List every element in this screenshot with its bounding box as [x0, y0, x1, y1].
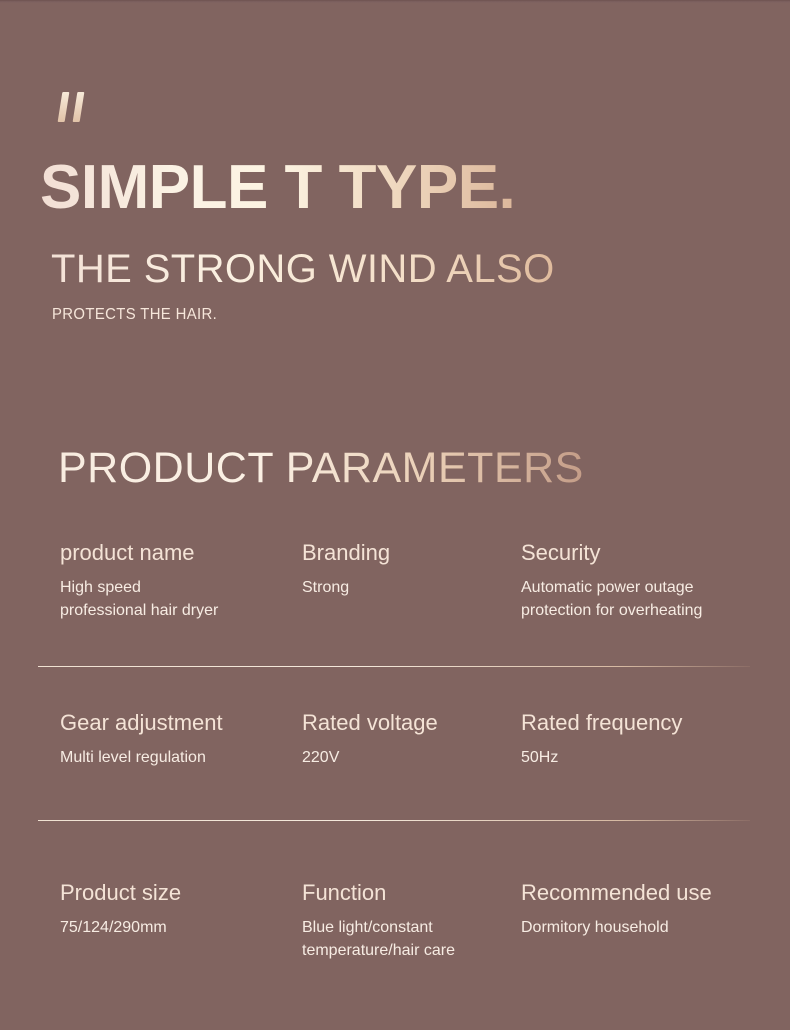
- parameters-grid: product name High speed professional hai…: [0, 540, 790, 1000]
- parameter-label: product name: [60, 540, 295, 565]
- parameter-cell: Gear adjustment Multi level regulation: [60, 710, 295, 769]
- parameter-row: Gear adjustment Multi level regulation R…: [0, 670, 790, 840]
- product-spec-page: SIMPLE T TYPE. THE STRONG WIND ALSO PROT…: [0, 0, 790, 1030]
- hero-subheadline: THE STRONG WIND ALSO: [51, 249, 555, 289]
- parameter-value: 220V: [302, 746, 512, 769]
- hero-headline: SIMPLE T TYPE.: [40, 157, 515, 219]
- parameter-cell: product name High speed professional hai…: [60, 540, 295, 623]
- parameter-label: Branding: [302, 540, 512, 565]
- parameter-label: Product size: [60, 880, 295, 905]
- parameter-row: product name High speed professional hai…: [0, 540, 790, 670]
- top-edge-shade: [0, 0, 790, 3]
- parameter-label: Gear adjustment: [60, 710, 295, 735]
- section-title-product-parameters: PRODUCT PARAMETERS: [58, 447, 584, 490]
- parameter-cell: Security Automatic power outage protecti…: [521, 540, 771, 623]
- parameter-value: Automatic power outage protection for ov…: [521, 576, 771, 622]
- parameter-cell: Recommended use Dormitory household: [521, 880, 771, 939]
- parameter-label: Security: [521, 540, 771, 565]
- parameter-value: Strong: [302, 576, 512, 599]
- parameter-label: Rated frequency: [521, 710, 771, 735]
- parameter-cell: Product size 75/124/290mm: [60, 880, 295, 939]
- hero-tagline: PROTECTS THE HAIR.: [52, 307, 217, 323]
- parameter-label: Rated voltage: [302, 710, 512, 735]
- parameter-label: Function: [302, 880, 512, 905]
- parameter-cell: Rated voltage 220V: [302, 710, 512, 769]
- parameter-value: Blue light/constant temperature/hair car…: [302, 916, 512, 962]
- parameter-cell: Function Blue light/constant temperature…: [302, 880, 512, 963]
- parameter-row: Product size 75/124/290mm Function Blue …: [0, 840, 790, 1000]
- parameter-value: Dormitory household: [521, 916, 771, 939]
- parameter-value: High speed professional hair dryer: [60, 576, 295, 622]
- parameter-value: 50Hz: [521, 746, 771, 769]
- quote-mark-icon: [58, 92, 92, 126]
- row-divider: [38, 820, 750, 821]
- parameter-cell: Branding Strong: [302, 540, 512, 599]
- parameter-value: Multi level regulation: [60, 746, 295, 769]
- parameter-value: 75/124/290mm: [60, 916, 295, 939]
- parameter-cell: Rated frequency 50Hz: [521, 710, 771, 769]
- row-divider: [38, 666, 750, 667]
- parameter-label: Recommended use: [521, 880, 771, 905]
